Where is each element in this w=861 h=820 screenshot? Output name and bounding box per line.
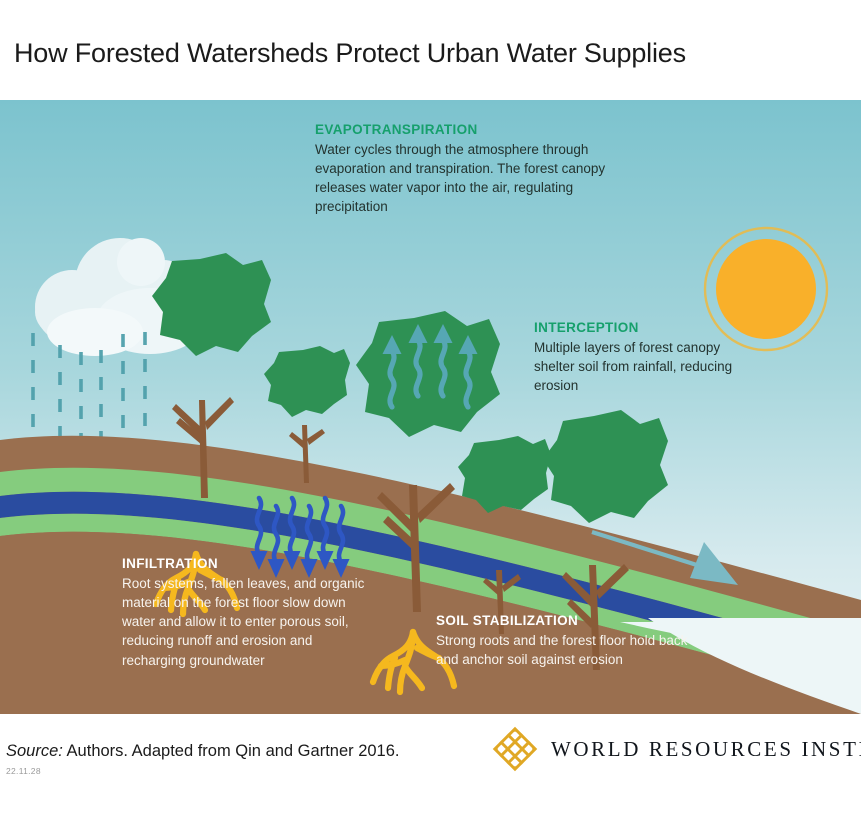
infographic-page: How Forested Watersheds Protect Urban Wa… bbox=[0, 0, 861, 820]
callout-heading: EVAPOTRANSPIRATION bbox=[315, 122, 615, 137]
source-note: Source: Authors. Adapted from Qin and Ga… bbox=[6, 742, 400, 761]
page-title: How Forested Watersheds Protect Urban Wa… bbox=[14, 38, 861, 69]
source-label: Source: bbox=[6, 742, 63, 760]
wri-wordmark: WORLD RESOURCES INSTITUTE bbox=[551, 737, 861, 762]
callout-heading: INTERCEPTION bbox=[534, 320, 764, 335]
illustration-panel: EVAPOTRANSPIRATION Water cycles through … bbox=[0, 100, 861, 714]
wri-logo: WORLD RESOURCES INSTITUTE bbox=[492, 726, 861, 772]
callout-body: Strong roots and the forest floor hold b… bbox=[436, 631, 696, 669]
wri-logo-mark bbox=[492, 726, 538, 772]
callout-evapotranspiration: EVAPOTRANSPIRATION Water cycles through … bbox=[315, 122, 615, 217]
callout-body: Root systems, fallen leaves, and organic… bbox=[122, 574, 372, 670]
callout-soil-stabilization: SOIL STABILIZATION Strong roots and the … bbox=[436, 613, 696, 669]
callout-body: Multiple layers of forest canopy shelter… bbox=[534, 338, 764, 395]
callout-infiltration: INFILTRATION Root systems, fallen leaves… bbox=[122, 556, 372, 670]
title-bar: How Forested Watersheds Protect Urban Wa… bbox=[0, 0, 861, 100]
callout-interception: INTERCEPTION Multiple layers of forest c… bbox=[534, 320, 764, 395]
date-stamp: 22.11.28 bbox=[6, 766, 41, 776]
callout-heading: SOIL STABILIZATION bbox=[436, 613, 696, 628]
callout-heading: INFILTRATION bbox=[122, 556, 372, 571]
callout-body: Water cycles through the atmosphere thro… bbox=[315, 140, 615, 217]
source-text: Authors. Adapted from Qin and Gartner 20… bbox=[63, 742, 400, 760]
